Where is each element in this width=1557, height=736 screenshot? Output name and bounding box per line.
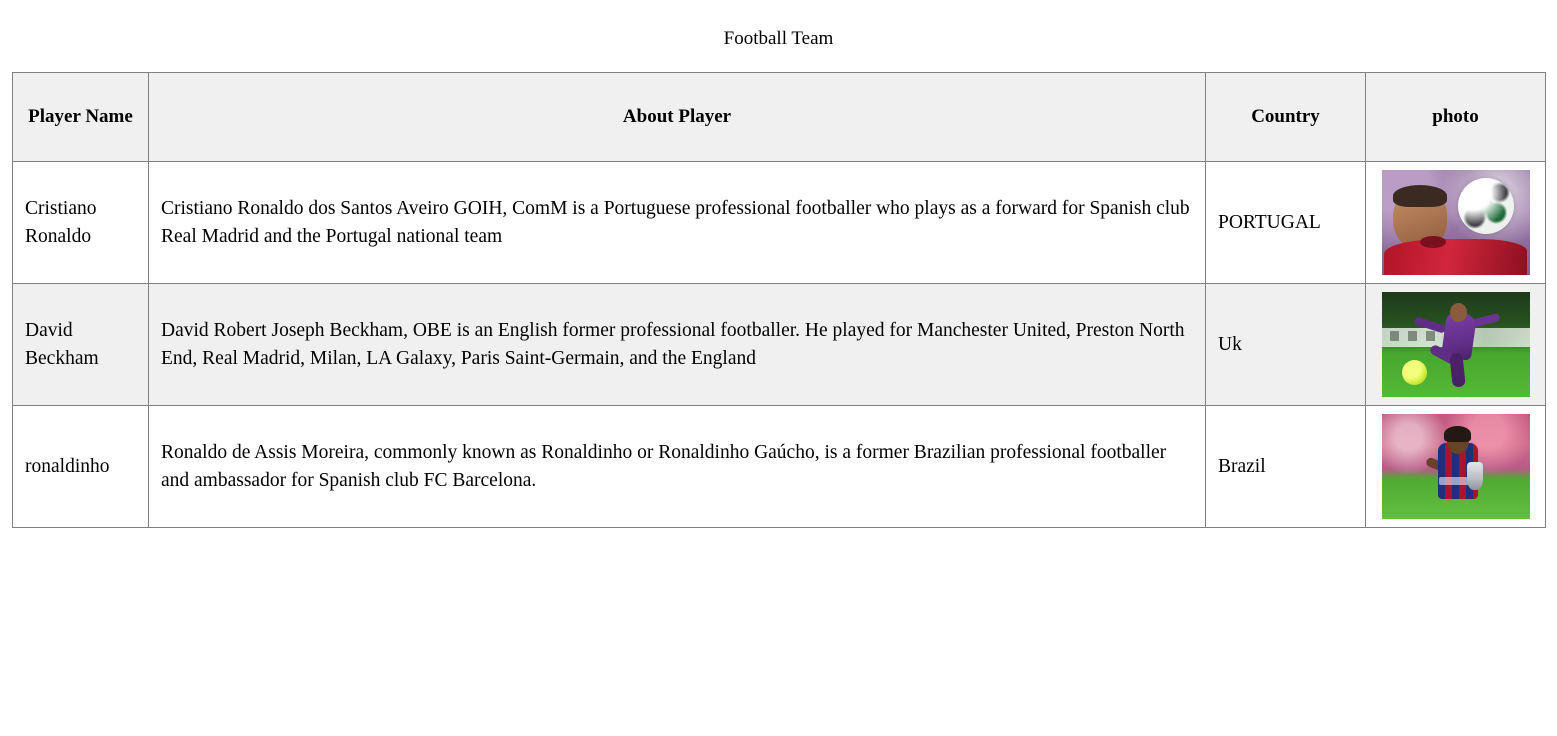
player-hair-shape (1393, 185, 1447, 207)
cell-country: Uk (1206, 284, 1366, 406)
table-container: Player Name About Player Country photo C… (0, 72, 1557, 528)
cell-photo (1366, 406, 1546, 528)
column-header-country[interactable]: Country (1206, 73, 1366, 162)
cell-photo (1366, 162, 1546, 284)
cell-about-player: Cristiano Ronaldo dos Santos Aveiro GOIH… (149, 162, 1206, 284)
football-ball-shape (1402, 360, 1427, 385)
player-jersey-shape (1384, 239, 1526, 275)
player-head-shape (1450, 303, 1467, 322)
cell-player-name: ronaldinho (13, 406, 149, 528)
table-body: Cristiano Ronaldo Cristiano Ronaldo dos … (13, 162, 1546, 528)
page-title: Football Team (0, 0, 1557, 48)
column-header-about-player[interactable]: About Player (149, 73, 1206, 162)
cristiano-ronaldo-photo (1382, 170, 1530, 275)
ronaldinho-photo (1382, 414, 1530, 519)
cell-player-name: Cristiano Ronaldo (13, 162, 149, 284)
david-beckham-photo (1382, 292, 1530, 397)
table-header: Player Name About Player Country photo (13, 73, 1546, 162)
player-hair-shape (1444, 426, 1471, 442)
cell-country: Brazil (1206, 406, 1366, 528)
trophy-shape (1467, 462, 1483, 490)
player-collar-shape (1420, 236, 1446, 248)
header-row: Player Name About Player Country photo (13, 73, 1546, 162)
cell-photo (1366, 284, 1546, 406)
cell-about-player: David Robert Joseph Beckham, OBE is an E… (149, 284, 1206, 406)
cell-player-name: David Beckham (13, 284, 149, 406)
table-row: Cristiano Ronaldo Cristiano Ronaldo dos … (13, 162, 1546, 284)
football-ball-shape (1458, 178, 1514, 234)
table-row: ronaldinho Ronaldo de Assis Moreira, com… (13, 406, 1546, 528)
column-header-photo[interactable]: photo (1366, 73, 1546, 162)
football-team-table: Player Name About Player Country photo C… (12, 72, 1546, 528)
column-header-player-name[interactable]: Player Name (13, 73, 149, 162)
cell-country: PORTUGAL (1206, 162, 1366, 284)
cell-about-player: Ronaldo de Assis Moreira, commonly known… (149, 406, 1206, 528)
table-row: David Beckham David Robert Joseph Beckha… (13, 284, 1546, 406)
